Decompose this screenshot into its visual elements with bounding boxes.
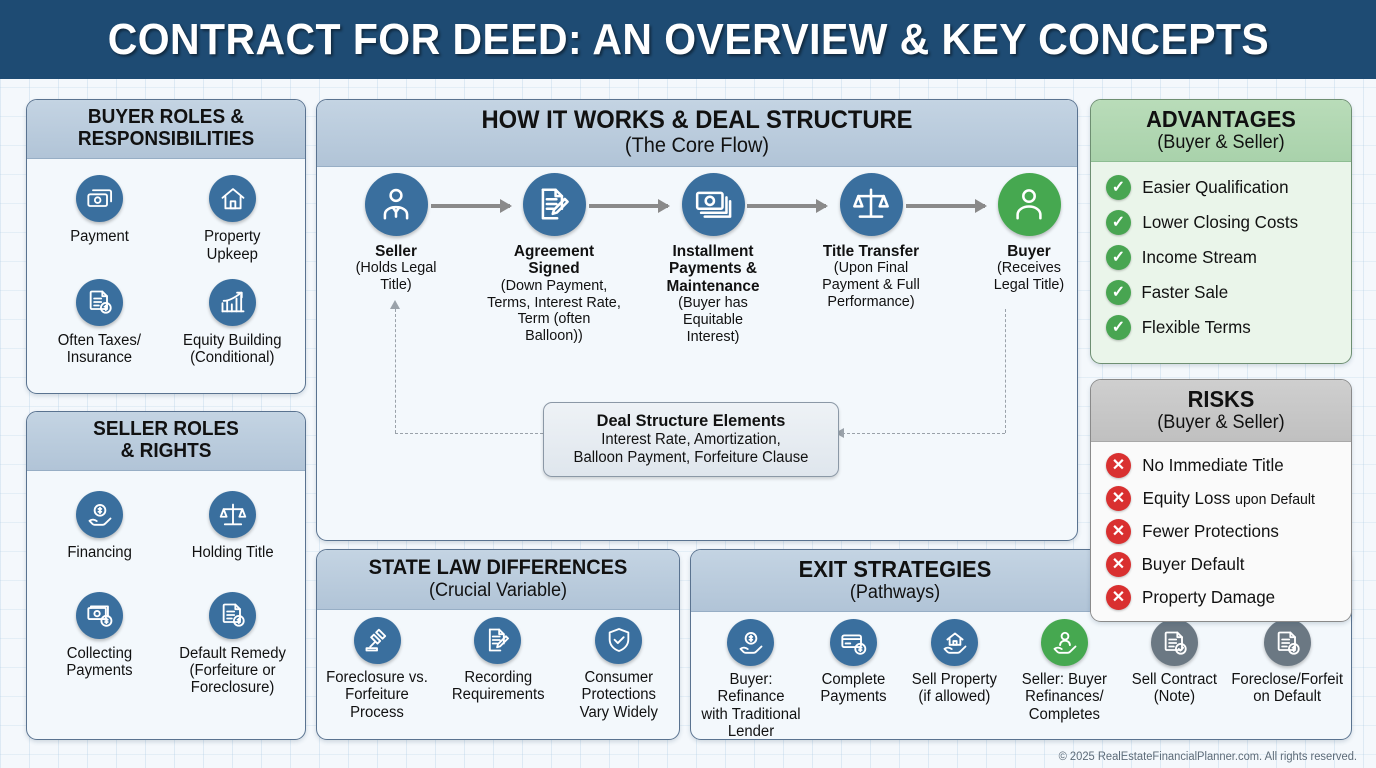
panel-seller-roles-title-2: & RIGHTS bbox=[40, 441, 293, 463]
shield-check-icon bbox=[595, 617, 642, 664]
check-icon: ✓ bbox=[1106, 280, 1131, 305]
scales-icon bbox=[209, 491, 256, 538]
deal-structure-box[interactable]: Deal Structure Elements Interest Rate, A… bbox=[543, 402, 839, 477]
seller-role-holding-title[interactable]: Holding Title bbox=[166, 491, 299, 561]
feedback-line-left-horizontal bbox=[395, 433, 543, 434]
state-law-foreclosure-vs-forfeiture-label: Foreclosure vs.ForfeitureProcess bbox=[326, 669, 428, 721]
document-pen-icon bbox=[474, 617, 521, 664]
document-dollar-icon bbox=[1264, 619, 1311, 666]
advantage-item[interactable]: ✓ Flexible Terms bbox=[1097, 313, 1345, 342]
flow-step-installment-payments-sub: (Buyer hasEquitableInterest) bbox=[641, 295, 785, 345]
panel-seller-roles: SELLER ROLES & RIGHTS Financing Holding … bbox=[26, 411, 306, 740]
panel-risks: RISKS (Buyer & Seller) ✕ No Immediate Ti… bbox=[1090, 379, 1352, 622]
state-law-recording-requirements-label: RecordingRequirements bbox=[452, 669, 545, 704]
panel-state-law-title-2: (Crucial Variable) bbox=[332, 580, 665, 601]
panel-buyer-roles-title-2: RESPONSIBILITIES bbox=[40, 129, 293, 151]
advantage-item-label: Easier Qualification bbox=[1142, 177, 1288, 198]
hand-dollar-icon bbox=[76, 491, 123, 538]
panel-exit-strategies-header: EXIT STRATEGIES (Pathways) bbox=[691, 550, 1100, 612]
panel-exit-strategies-title-1: EXIT STRATEGIES bbox=[707, 557, 1083, 582]
cash-stack-icon bbox=[682, 173, 745, 236]
check-icon: ✓ bbox=[1106, 210, 1131, 235]
check-icon: ✓ bbox=[1106, 315, 1131, 340]
seller-role-collecting-payments[interactable]: CollectingPayments bbox=[33, 592, 166, 697]
panel-seller-roles-title-1: SELLER ROLES bbox=[40, 419, 293, 441]
panel-buyer-roles-header: BUYER ROLES & RESPONSIBILITIES bbox=[27, 100, 305, 159]
state-law-consumer-protections-label: ConsumerProtectionsVary Widely bbox=[579, 669, 657, 721]
hand-person-icon bbox=[1041, 619, 1088, 666]
flow-step-title-transfer-title: Title Transfer bbox=[799, 243, 943, 261]
exit-strategy-seller-buyer-refinances[interactable]: Seller: BuyerRefinances/Completes bbox=[1010, 619, 1120, 723]
flow-step-agreement-signed-title: AgreementSigned bbox=[482, 243, 626, 278]
state-law-foreclosure-vs-forfeiture[interactable]: Foreclosure vs.ForfeitureProcess bbox=[321, 617, 433, 721]
panel-state-law-title-1: STATE LAW DIFFERENCES bbox=[332, 557, 665, 580]
advantage-item-label: Flexible Terms bbox=[1142, 317, 1251, 338]
exit-strategy-sell-contract[interactable]: Sell Contract(Note) bbox=[1123, 619, 1227, 706]
cash-coin-icon bbox=[76, 592, 123, 639]
panel-state-law-body: Foreclosure vs.ForfeitureProcess Recordi… bbox=[317, 610, 679, 721]
seller-role-financing[interactable]: Financing bbox=[33, 491, 166, 561]
page-title: CONTRACT FOR DEED: AN OVERVIEW & KEY CON… bbox=[107, 15, 1268, 65]
credit-card-dollar-icon bbox=[830, 619, 877, 666]
risk-item-label: No Immediate Title bbox=[1142, 455, 1284, 476]
panel-how-it-works: HOW IT WORKS & DEAL STRUCTURE (The Core … bbox=[316, 99, 1078, 541]
check-icon: ✓ bbox=[1106, 175, 1131, 200]
panel-how-it-works-header: HOW IT WORKS & DEAL STRUCTURE (The Core … bbox=[317, 100, 1077, 167]
x-icon: ✕ bbox=[1106, 585, 1131, 610]
panel-how-it-works-title-1: HOW IT WORKS & DEAL STRUCTURE bbox=[342, 107, 1053, 134]
exit-strategy-complete-payments-label: CompletePayments bbox=[820, 671, 886, 706]
risk-item[interactable]: ✕ Buyer Default bbox=[1097, 550, 1345, 579]
flow-step-title-transfer[interactable]: Title Transfer (Upon FinalPayment & Full… bbox=[796, 173, 946, 311]
flow-step-installment-payments[interactable]: InstallmentPayments &Maintenance (Buyer … bbox=[638, 173, 788, 346]
buyer-role-equity-building[interactable]: Equity Building(Conditional) bbox=[166, 279, 299, 367]
panel-buyer-roles: BUYER ROLES & RESPONSIBILITIES Payment P… bbox=[26, 99, 306, 394]
risk-item[interactable]: ✕ No Immediate Title bbox=[1097, 451, 1345, 480]
panel-state-law: STATE LAW DIFFERENCES (Crucial Variable)… bbox=[316, 549, 680, 740]
panel-how-it-works-body: Seller (Holds LegalTitle) AgreementSigne… bbox=[317, 167, 1077, 533]
exit-strategy-sell-property[interactable]: Sell Property(if allowed) bbox=[903, 619, 1007, 706]
house-icon bbox=[209, 175, 256, 222]
flow-step-buyer[interactable]: Buyer (ReceivesLegal Title) bbox=[954, 173, 1078, 294]
panel-advantages-title-2: (Buyer & Seller) bbox=[1103, 132, 1339, 153]
hand-dollar-icon bbox=[727, 619, 774, 666]
buyer-role-payment-label: Payment bbox=[70, 228, 129, 245]
feedback-line-left-vertical bbox=[395, 309, 396, 433]
deal-structure-title: Deal Structure Elements bbox=[561, 411, 820, 431]
buyer-role-payment[interactable]: Payment bbox=[33, 175, 166, 263]
cash-card-icon bbox=[76, 175, 123, 222]
feedback-arrow-up bbox=[390, 300, 400, 309]
risk-item-label: Property Damage bbox=[1142, 587, 1275, 608]
exit-strategy-sell-property-label: Sell Property(if allowed) bbox=[912, 671, 997, 706]
feedback-line-right-horizontal bbox=[842, 433, 1005, 434]
hand-house-icon bbox=[931, 619, 978, 666]
exit-strategy-foreclose-forfeit-label: Foreclose/Forfeiton Default bbox=[1232, 671, 1344, 706]
flow-step-buyer-title: Buyer bbox=[957, 243, 1078, 261]
exit-strategy-seller-buyer-refinances-label: Seller: BuyerRefinances/Completes bbox=[1022, 671, 1107, 723]
state-law-recording-requirements[interactable]: RecordingRequirements bbox=[442, 617, 554, 704]
buyer-role-taxes-insurance[interactable]: Often Taxes/Insurance bbox=[33, 279, 166, 367]
advantage-item[interactable]: ✓ Lower Closing Costs bbox=[1097, 208, 1345, 237]
x-icon: ✕ bbox=[1106, 519, 1131, 544]
gavel-icon bbox=[354, 617, 401, 664]
risk-item-label: Equity Loss upon Default bbox=[1143, 488, 1315, 509]
panel-risks-title-2: (Buyer & Seller) bbox=[1103, 412, 1339, 433]
document-dollar-icon bbox=[76, 279, 123, 326]
flow-step-seller-title: Seller bbox=[324, 243, 468, 261]
seller-role-collecting-payments-label: CollectingPayments bbox=[66, 645, 132, 680]
panel-risks-body: ✕ No Immediate Title ✕ Equity Loss upon … bbox=[1091, 442, 1351, 620]
flow-step-buyer-sub: (ReceivesLegal Title) bbox=[957, 260, 1078, 294]
panel-risks-header: RISKS (Buyer & Seller) bbox=[1091, 380, 1351, 442]
exit-strategy-buyer-refinance-label: Buyer: Refinancewith TraditionalLender bbox=[699, 671, 803, 740]
advantage-item[interactable]: ✓ Faster Sale bbox=[1097, 278, 1345, 307]
risk-item-label: Fewer Protections bbox=[1142, 521, 1279, 542]
flow-step-seller[interactable]: Seller (Holds LegalTitle) bbox=[321, 173, 471, 294]
advantage-item-label: Lower Closing Costs bbox=[1142, 212, 1298, 233]
seller-role-default-remedy-label: Default Remedy(Forfeiture orForeclosure) bbox=[179, 645, 286, 697]
x-icon: ✕ bbox=[1106, 486, 1131, 511]
advantage-item-label: Faster Sale bbox=[1141, 282, 1228, 303]
buyer-role-property-upkeep[interactable]: PropertyUpkeep bbox=[166, 175, 299, 263]
panel-advantages: ADVANTAGES (Buyer & Seller) ✓ Easier Qua… bbox=[1090, 99, 1352, 364]
buyer-role-property-upkeep-label: PropertyUpkeep bbox=[204, 228, 260, 263]
panel-exit-strategies-body: Buyer: Refinancewith TraditionalLender C… bbox=[691, 612, 1351, 740]
deal-structure-line-1: Interest Rate, Amortization, bbox=[561, 431, 820, 450]
document-check-icon bbox=[1151, 619, 1198, 666]
seller-role-financing-label: Financing bbox=[67, 544, 132, 561]
flow-step-agreement-signed-sub: (Down Payment,Terms, Interest Rate,Term … bbox=[482, 278, 626, 345]
scales-icon bbox=[840, 173, 903, 236]
risk-item-label: Buyer Default bbox=[1142, 554, 1245, 575]
advantage-item[interactable]: ✓ Income Stream bbox=[1097, 243, 1345, 272]
panel-advantages-header: ADVANTAGES (Buyer & Seller) bbox=[1091, 100, 1351, 162]
exit-strategy-foreclose-forfeit[interactable]: Foreclose/Forfeiton Default bbox=[1230, 619, 1346, 706]
buyer-role-taxes-insurance-label: Often Taxes/Insurance bbox=[58, 332, 141, 367]
panel-exit-strategies-title-2: (Pathways) bbox=[707, 582, 1083, 603]
flow-step-agreement-signed[interactable]: AgreementSigned (Down Payment,Terms, Int… bbox=[479, 173, 629, 345]
bar-chart-growth-icon bbox=[209, 279, 256, 326]
document-dollar-icon bbox=[209, 592, 256, 639]
x-icon: ✕ bbox=[1106, 453, 1131, 478]
person-icon bbox=[998, 173, 1061, 236]
flow-step-title-transfer-sub: (Upon FinalPayment & FullPerformance) bbox=[799, 260, 943, 310]
seller-role-default-remedy[interactable]: Default Remedy(Forfeiture orForeclosure) bbox=[166, 592, 299, 697]
page-header: CONTRACT FOR DEED: AN OVERVIEW & KEY CON… bbox=[0, 0, 1376, 79]
flow-step-seller-sub: (Holds LegalTitle) bbox=[324, 260, 468, 294]
document-pen-icon bbox=[523, 173, 586, 236]
buyer-role-equity-building-label: Equity Building(Conditional) bbox=[183, 332, 281, 367]
seller-role-holding-title-label: Holding Title bbox=[192, 544, 274, 561]
risk-item[interactable]: ✕ Property Damage bbox=[1097, 583, 1345, 612]
panel-buyer-roles-title-1: BUYER ROLES & bbox=[40, 107, 293, 129]
panel-seller-roles-body: Financing Holding Title CollectingPaymen… bbox=[27, 471, 305, 704]
panel-how-it-works-title-2: (The Core Flow) bbox=[342, 134, 1053, 158]
panel-seller-roles-header: SELLER ROLES & RIGHTS bbox=[27, 412, 305, 471]
panel-advantages-title-1: ADVANTAGES bbox=[1103, 107, 1339, 132]
advantage-item-label: Income Stream bbox=[1142, 247, 1257, 268]
exit-strategy-sell-contract-label: Sell Contract(Note) bbox=[1132, 671, 1217, 706]
person-suit-icon bbox=[365, 173, 428, 236]
exit-strategy-complete-payments[interactable]: CompletePayments bbox=[808, 619, 900, 706]
panel-advantages-body: ✓ Easier Qualification ✓ Lower Closing C… bbox=[1091, 162, 1351, 350]
infographic-canvas: CONTRACT FOR DEED: AN OVERVIEW & KEY CON… bbox=[0, 0, 1376, 768]
panel-risks-title-1: RISKS bbox=[1103, 387, 1339, 412]
deal-structure-line-2: Balloon Payment, Forfeiture Clause bbox=[561, 449, 820, 468]
copyright-footer: © 2025 RealEstateFinancialPlanner.com. A… bbox=[1059, 751, 1357, 763]
x-icon: ✕ bbox=[1106, 552, 1131, 577]
feedback-line-right-vertical bbox=[1005, 309, 1006, 433]
check-icon: ✓ bbox=[1106, 245, 1131, 270]
advantage-item[interactable]: ✓ Easier Qualification bbox=[1097, 173, 1345, 202]
state-law-consumer-protections[interactable]: ConsumerProtectionsVary Widely bbox=[563, 617, 675, 721]
flow-step-installment-payments-title: InstallmentPayments &Maintenance bbox=[641, 243, 785, 296]
panel-state-law-header: STATE LAW DIFFERENCES (Crucial Variable) bbox=[317, 550, 679, 610]
risk-item[interactable]: ✕ Fewer Protections bbox=[1097, 517, 1345, 546]
panel-buyer-roles-body: Payment PropertyUpkeep Often Taxes/Insur… bbox=[27, 159, 305, 374]
exit-strategy-buyer-refinance[interactable]: Buyer: Refinancewith TraditionalLender bbox=[697, 619, 805, 740]
risk-item[interactable]: ✕ Equity Loss upon Default bbox=[1097, 484, 1345, 513]
